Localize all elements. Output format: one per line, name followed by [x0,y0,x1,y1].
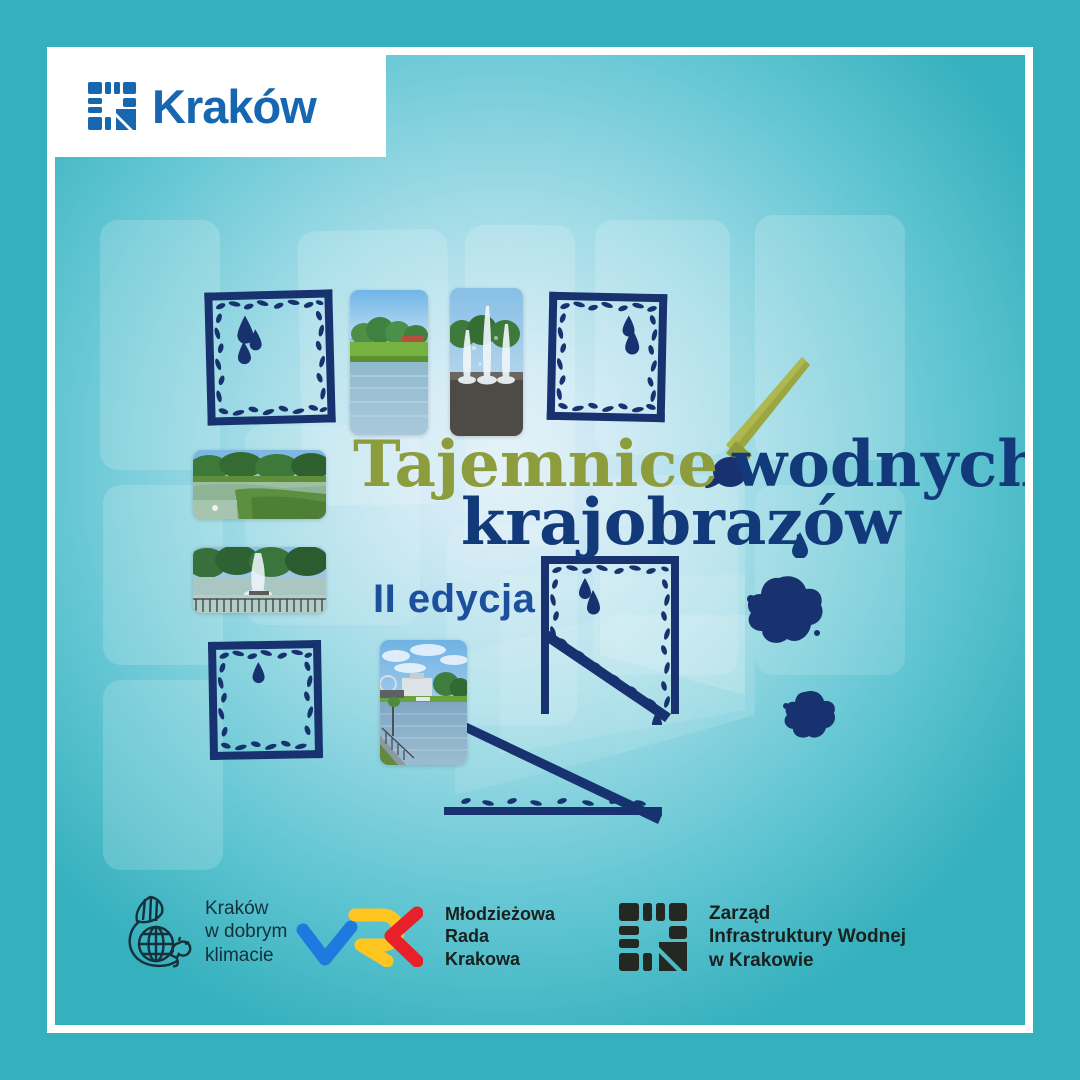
photo-riverbank-city [380,640,467,765]
photo-pond-plants [193,450,326,519]
klimat-line-1: Kraków [205,897,287,920]
mrk-line-3: Krakowa [445,948,555,970]
mrk-monogram-icon [295,905,423,967]
poster-canvas: Tajemnicewodnych krajobrazów II edycja [55,55,1025,1025]
ziw-square-mark-icon [617,901,689,973]
ornamental-frame-top-left [198,283,342,432]
ziw-line-2: Infrastruktury Wodnej [709,925,906,949]
poster-title-block: Tajemnicewodnych krajobrazów II edycja [353,433,1025,622]
logo-mlodziezowa-rada-krakowa: Młodzieżowa Rada Krakowa [295,903,555,970]
photo-fountain-jets [450,288,523,436]
ginkgo-globe-plug-icon [123,893,197,971]
logo-mrk-text: Młodzieżowa Rada Krakowa [445,903,555,970]
mrk-line-1: Młodzieżowa [445,903,555,925]
logo-klimat-text: Kraków w dobrym klimacie [205,897,287,967]
ziw-line-1: Zarząd [709,902,906,926]
logo-zarzad-infrastruktury-wodnej: Zarząd Infrastruktury Wodnej w Krakowie [617,901,906,973]
krakow-brand-badge[interactable]: Kraków [55,55,386,157]
logo-krakow-w-dobrym-klimacie: Kraków w dobrym klimacie [123,893,287,971]
photo-river-park [350,290,428,435]
photo-park-fountain [193,547,326,613]
ornamental-diagonal-band [440,675,700,825]
ornamental-frame-bottom-left [202,634,329,766]
ziw-line-3: w Krakowie [709,949,906,973]
klimat-line-2: w dobrym [205,920,287,943]
krakow-brand-label: Kraków [152,83,316,130]
title-water-drop-icon [792,532,808,558]
ink-splat-small-icon [782,690,837,738]
poster-root: Tajemnicewodnych krajobrazów II edycja [0,0,1080,1080]
ornamental-frame-top-right [541,286,674,429]
mrk-line-2: Rada [445,925,555,947]
footer-logos: Kraków w dobrym klimacie Młodzieżowa Rad… [55,875,1025,1015]
klimat-line-3: klimacie [205,944,287,967]
title-edition: II edycja [373,577,1025,622]
logo-ziw-text: Zarząd Infrastruktury Wodnej w Krakowie [709,902,906,973]
krakow-city-mark-icon [88,82,136,130]
